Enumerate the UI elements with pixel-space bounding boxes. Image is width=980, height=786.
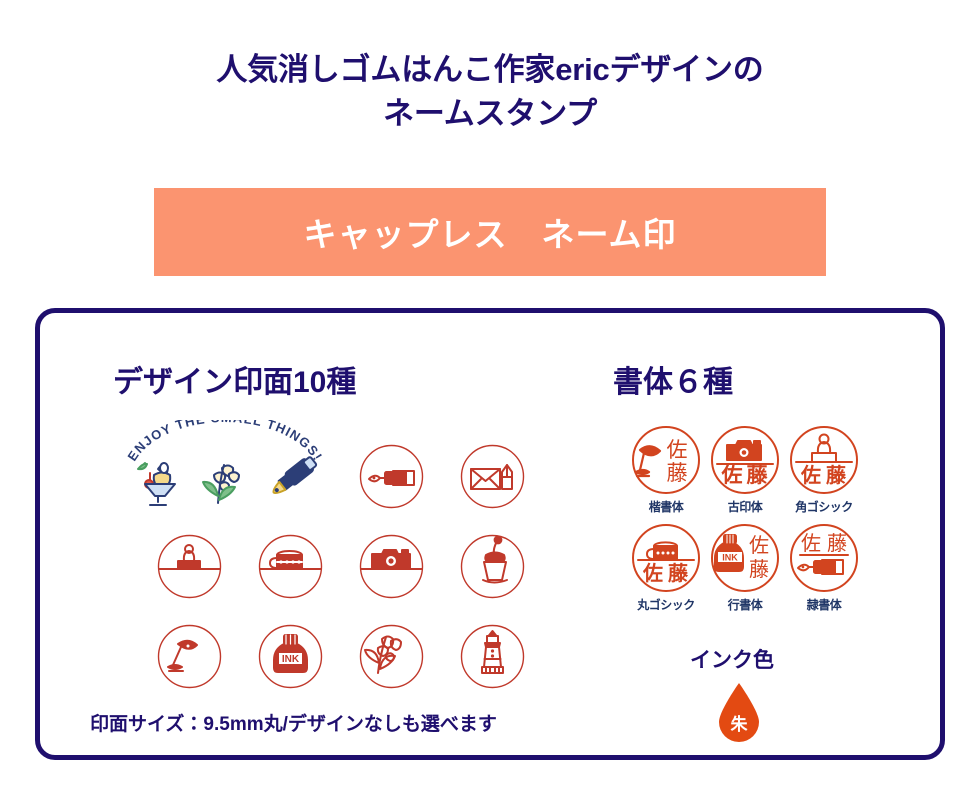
page-title-line-2: ネームスタンプ	[0, 92, 980, 136]
svg-text:佐: 佐	[800, 463, 821, 487]
font-label-kaku-gothic: 角ゴシック	[788, 498, 860, 515]
font-label-reisho: 隷書体	[788, 596, 860, 613]
svg-text:佐: 佐	[721, 463, 743, 487]
font-label-gyosho: 行書体	[709, 596, 781, 613]
fonts-heading: 書体６種	[613, 357, 733, 401]
ink-color-swatch[interactable]: 朱	[715, 681, 763, 743]
svg-text:佐: 佐	[642, 561, 663, 585]
svg-text:藤: 藤	[826, 463, 847, 487]
page-title-line-1: 人気消しゴムはんこ作家ericデザインの	[0, 48, 980, 92]
design-stamp-pudding[interactable]	[459, 533, 526, 600]
svg-text:藤: 藤	[668, 561, 689, 585]
design-stamp-mug[interactable]	[257, 533, 324, 600]
stamp-tool-illustration	[269, 455, 318, 498]
design-stamp-gallery: ENJOY THE SMALL THINGS!	[80, 415, 560, 715]
lily-illustration	[203, 465, 239, 503]
product-banner: キャップレス ネーム印	[154, 188, 826, 276]
stamp-size-note: 印面サイズ：9.5mm丸/デザインなしも選べます	[90, 709, 497, 736]
design-stamp-ink-bottle[interactable]: INK	[257, 623, 324, 690]
font-sample-grid: 佐 藤 楷書体 佐 藤	[630, 424, 860, 620]
design-stamp-camera[interactable]	[358, 533, 425, 600]
svg-text:藤: 藤	[827, 532, 847, 555]
parfait-illustration	[138, 463, 175, 505]
product-banner-label: キャップレス ネーム印	[303, 208, 676, 256]
font-sample-char-1: 佐	[667, 438, 688, 462]
designs-heading: デザイン印面10種	[113, 357, 356, 401]
design-stamp-flower[interactable]	[358, 623, 425, 690]
svg-text:藤: 藤	[746, 463, 769, 487]
font-label-koin: 古印体	[709, 498, 781, 515]
font-label-maru-gothic: 丸ゴシック	[630, 596, 702, 613]
svg-text:佐: 佐	[749, 534, 769, 557]
svg-text:藤: 藤	[749, 558, 769, 581]
page-title: 人気消しゴムはんこ作家ericデザインの ネームスタンプ	[0, 48, 980, 136]
design-stamp-lighthouse[interactable]	[459, 623, 526, 690]
font-label-kaisho: 楷書体	[630, 498, 702, 515]
font-sample-koin[interactable]: 佐 藤 古印体	[709, 424, 781, 515]
ink-color-heading: インク色	[690, 644, 774, 674]
svg-text:INK: INK	[722, 553, 738, 563]
font-sample-maru-gothic[interactable]: 佐 藤 丸ゴシック	[630, 522, 702, 613]
design-stamp-desk-lamp[interactable]	[156, 623, 223, 690]
design-stamp-pen-nib[interactable]	[358, 443, 425, 510]
design-stamp-envelope-pencil[interactable]	[459, 443, 526, 510]
font-sample-gyosho[interactable]: INK 佐 藤 行書体	[709, 522, 781, 613]
font-sample-row-2: 佐 藤 丸ゴシック INK 佐 藤	[630, 522, 860, 613]
font-sample-kaku-gothic[interactable]: 佐 藤 角ゴシック	[788, 424, 860, 515]
ink-color-swatch-label: 朱	[731, 714, 749, 734]
arc-text: ENJOY THE SMALL THINGS!	[124, 420, 325, 464]
svg-text:佐: 佐	[801, 532, 821, 555]
font-sample-reisho[interactable]: 佐 藤 隷書体	[788, 522, 860, 613]
design-stamp-clip[interactable]	[156, 533, 223, 600]
font-sample-char-2: 藤	[667, 461, 688, 485]
svg-text:INK: INK	[282, 654, 300, 665]
font-sample-kaisho[interactable]: 佐 藤 楷書体	[630, 424, 702, 515]
eric-illustration: ENJOY THE SMALL THINGS!	[120, 420, 330, 515]
promo-page: 人気消しゴムはんこ作家ericデザインの ネームスタンプ キャップレス ネーム印…	[0, 0, 980, 786]
font-sample-row-1: 佐 藤 楷書体 佐 藤	[630, 424, 860, 515]
